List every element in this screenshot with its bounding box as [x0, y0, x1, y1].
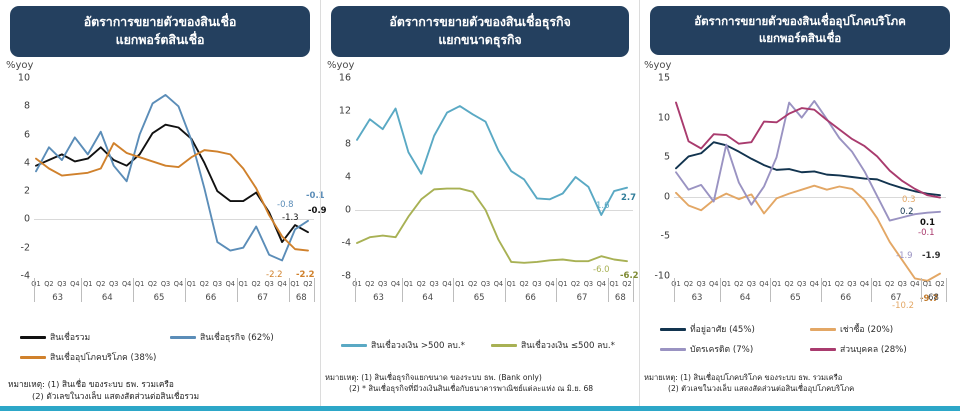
x-axis-year-separator	[185, 278, 186, 302]
legend-item[interactable]: บัตรเครดิต (7%)	[660, 342, 753, 356]
legend-item[interactable]: สินเชื่อธุรกิจ (62%)	[170, 330, 274, 344]
x-axis-quarter-tick: Q3	[213, 280, 222, 288]
x-axis-quarter-tick: Q1	[558, 280, 567, 288]
legend-credit-portfolio: สินเชื่อรวมสินเชื่อธุรกิจ (62%)สินเชื่ออ…	[14, 330, 314, 370]
x-axis-quarter-tick: Q2	[251, 280, 260, 288]
x-axis-quarter-tick: Q3	[161, 280, 170, 288]
x-axis-year-label: 64	[102, 293, 113, 303]
x-axis-year-separator	[770, 278, 771, 302]
x-axis-quarter-tick: Q2	[684, 280, 693, 288]
x-axis-year-label: 67	[257, 293, 268, 303]
series-line	[36, 125, 308, 242]
x-axis-quarter-tick: Q2	[303, 280, 312, 288]
y-axis-tick-label: 15	[644, 73, 670, 84]
x-axis-quarter-tick: Q1	[455, 280, 464, 288]
legend-label: ส่วนบุคคล (28%)	[840, 342, 907, 356]
x-axis-quarter-tick: Q2	[200, 280, 209, 288]
x-axis-quarter-tick: Q4	[910, 280, 919, 288]
data-end-label: -6.0	[593, 265, 610, 275]
x-axis-quarter-tick: Q4	[545, 280, 554, 288]
legend-item[interactable]: ส่วนบุคคล (28%)	[810, 342, 907, 356]
x-axis-year-label: 65	[154, 293, 165, 303]
x-axis-business-credit-size: Q1Q2Q3Q4Q1Q2Q3Q4Q1Q2Q3Q4Q1Q2Q3Q4Q1Q2Q3Q4…	[355, 278, 633, 310]
data-end-label: 1.6	[596, 201, 610, 211]
y-axis-tick-label: -8	[325, 271, 351, 282]
panel-title-business-credit-size: อัตราการขยายตัวของสินเชื่อธุรกิจ แยกขนาด…	[331, 6, 629, 57]
x-axis-quarter-tick: Q1	[290, 280, 299, 288]
x-axis-quarter-tick: Q2	[784, 280, 793, 288]
title-line-1: อัตราการขยายตัวของสินเชื่อธุรกิจ	[335, 13, 625, 31]
x-axis-consumer-credit-portfolio: Q1Q2Q3Q4Q1Q2Q3Q4Q1Q2Q3Q4Q1Q2Q3Q4Q1Q2Q3Q4…	[674, 278, 946, 310]
x-axis-year-separator	[921, 278, 922, 302]
x-axis-year-label: 66	[205, 293, 216, 303]
x-axis-quarter-tick: Q1	[239, 280, 248, 288]
x-axis-quarter-tick: Q4	[597, 280, 606, 288]
x-axis-quarter-tick: Q4	[391, 280, 400, 288]
data-end-label: 0.1	[920, 218, 935, 228]
x-axis-quarter-tick: Q2	[571, 280, 580, 288]
legend-label: สินเชื่อธุรกิจ (62%)	[200, 330, 274, 344]
x-axis-quarter-tick: Q2	[622, 280, 631, 288]
data-end-label: -1.9	[896, 251, 913, 261]
note-credit-portfolio: หมายเหตุ: (1) สินเชื่อ ของระบบ ธพ. รวมเค…	[8, 378, 199, 403]
x-axis-year-separator	[821, 278, 822, 302]
legend-color-swatch	[660, 328, 686, 331]
x-axis-quarter-tick: Q1	[872, 280, 881, 288]
series-line	[357, 189, 627, 263]
legend-label: บัตรเครดิต (7%)	[690, 342, 753, 356]
series-line	[676, 103, 940, 198]
x-axis-year-label: 68	[615, 293, 626, 303]
y-axis-unit: %yoy	[327, 60, 354, 71]
x-axis-quarter-tick: Q2	[935, 280, 944, 288]
legend-item[interactable]: ที่อยู่อาศัย (45%)	[660, 322, 755, 336]
title-line-1: อัตราการขยายตัวของสินเชื่อ	[14, 13, 306, 31]
legend-label: สินเชื่อวงเงิน ≤500 ลบ.*	[521, 338, 615, 352]
x-axis-quarter-tick: Q3	[378, 280, 387, 288]
x-axis-year-separator	[871, 278, 872, 302]
x-axis-quarter-tick: Q2	[148, 280, 157, 288]
legend-color-swatch	[491, 344, 517, 347]
y-axis-tick-label: 8	[325, 139, 351, 150]
y-axis-tick-label: 6	[4, 129, 30, 140]
series-line	[676, 186, 940, 281]
x-axis-quarter-tick: Q3	[532, 280, 541, 288]
x-axis-quarter-tick: Q2	[365, 280, 374, 288]
x-axis-year-separator	[453, 278, 454, 302]
legend-color-swatch	[20, 336, 46, 339]
series-line	[36, 143, 308, 250]
note-line-1: หมายเหตุ: (1) สินเชื่อธุรกิจแยกขนาด ของร…	[325, 373, 542, 382]
note-consumer-credit-portfolio: หมายเหตุ: (1) สินเชื่ออุปโภคบริโภค ของระ…	[644, 372, 854, 395]
x-axis-quarter-tick: Q1	[671, 280, 680, 288]
legend-color-swatch	[810, 348, 836, 351]
x-axis-year-label: 65	[790, 293, 801, 303]
title-line-1: อัตราการขยายตัวของสินเชื่ออุปโภคบริโภค	[654, 13, 946, 30]
x-axis-quarter-tick: Q2	[417, 280, 426, 288]
x-axis-year-separator	[314, 278, 315, 302]
x-axis-quarter-tick: Q3	[429, 280, 438, 288]
x-axis-year-separator	[556, 278, 557, 302]
y-axis-tick-label: -5	[644, 231, 670, 242]
x-axis-quarter-tick: Q4	[226, 280, 235, 288]
y-axis-tick-label: 0	[4, 214, 30, 225]
x-axis-quarter-tick: Q4	[70, 280, 79, 288]
x-axis-year-separator	[674, 278, 675, 302]
x-axis-quarter-tick: Q4	[277, 280, 286, 288]
x-axis-year-separator	[355, 278, 356, 302]
x-axis-quarter-tick: Q2	[885, 280, 894, 288]
x-axis-year-label: 64	[422, 293, 433, 303]
x-axis-year-separator	[633, 278, 634, 302]
x-axis-year-label: 67	[891, 293, 902, 303]
legend-color-swatch	[20, 356, 46, 359]
y-axis-unit: %yoy	[6, 60, 33, 71]
bottom-accent-bar	[0, 406, 960, 411]
y-axis-tick-label: 12	[325, 106, 351, 117]
x-axis-year-separator	[505, 278, 506, 302]
data-end-label: -1.9	[922, 251, 941, 261]
x-axis-quarter-tick: Q1	[83, 280, 92, 288]
chart-panel-business-credit-size: อัตราการขยายตัวของสินเชื่อธุรกิจ แยกขนาด…	[320, 0, 640, 411]
chart-panel-consumer-credit-portfolio: อัตราการขยายตัวของสินเชื่ออุปโภคบริโภค แ…	[640, 0, 960, 411]
note-line-2: (2) * สินเชื่อธุรกิจที่มีวงเงินสินเชื่อก…	[325, 383, 593, 394]
legend-color-swatch	[810, 328, 836, 331]
x-axis-quarter-tick: Q4	[494, 280, 503, 288]
legend-item[interactable]: เช่าซื้อ (20%)	[810, 322, 893, 336]
x-axis-quarter-tick: Q4	[174, 280, 183, 288]
x-axis-quarter-tick: Q4	[442, 280, 451, 288]
x-axis-quarter-tick: Q3	[57, 280, 66, 288]
y-axis-tick-label: 10	[4, 73, 30, 84]
x-axis-quarter-tick: Q1	[822, 280, 831, 288]
y-axis-tick-label: 4	[4, 157, 30, 168]
x-axis-year-label: 63	[692, 293, 703, 303]
y-axis-tick-label: 16	[325, 73, 351, 84]
x-axis-quarter-tick: Q4	[122, 280, 131, 288]
x-axis-year-label: 63	[373, 293, 384, 303]
panel-title-credit-portfolio: อัตราการขยายตัวของสินเชื่อ แยกพอร์ตสินเช…	[10, 6, 310, 57]
x-axis-quarter-tick: Q1	[507, 280, 516, 288]
x-axis-year-label: 67	[577, 293, 588, 303]
x-axis-year-label: 64	[740, 293, 751, 303]
y-axis-tick-label: 0	[325, 205, 351, 216]
x-axis-year-separator	[946, 278, 947, 302]
x-axis-quarter-tick: Q3	[584, 280, 593, 288]
y-axis-tick-label: 5	[644, 152, 670, 163]
legend-item[interactable]: สินเชื่อรวม	[20, 330, 90, 344]
x-axis-quarter-tick: Q3	[797, 280, 806, 288]
title-line-2: แยกพอร์ตสินเชื่อ	[654, 30, 946, 47]
x-axis-quarter-tick: Q1	[772, 280, 781, 288]
x-axis-year-label: 68	[296, 293, 307, 303]
y-axis-tick-label: -4	[325, 238, 351, 249]
x-axis-quarter-tick: Q3	[109, 280, 118, 288]
y-axis-tick-label: 2	[4, 186, 30, 197]
x-axis-year-label: 68	[928, 293, 939, 303]
legend-business-credit-size: สินเชื่อวงเงิน >500 ลบ.*สินเชื่อวงเงิน ≤…	[335, 338, 635, 366]
x-axis-quarter-tick: Q1	[722, 280, 731, 288]
legend-item[interactable]: สินเชื่ออุปโภคบริโภค (38%)	[20, 350, 156, 364]
y-axis-tick-label: 4	[325, 172, 351, 183]
legend-color-swatch	[660, 348, 686, 351]
x-axis-quarter-tick: Q1	[135, 280, 144, 288]
x-axis-quarter-tick: Q2	[734, 280, 743, 288]
x-axis-year-separator	[34, 278, 35, 302]
data-end-label: -0.8	[277, 200, 294, 210]
x-axis-quarter-tick: Q1	[352, 280, 361, 288]
plot-area-consumer-credit-portfolio: 151050-5-100.30.20.1-0.1-1.9-1.9-10.2-9.…	[674, 78, 946, 276]
y-axis-tick-label: 0	[644, 191, 670, 202]
legend-label: สินเชื่อรวม	[50, 330, 90, 344]
legend-item[interactable]: สินเชื่อวงเงิน >500 ลบ.*	[341, 338, 465, 352]
series-line	[36, 95, 308, 260]
x-axis-year-label: 66	[525, 293, 536, 303]
data-end-label: -1.3	[282, 213, 299, 223]
note-business-credit-size: หมายเหตุ: (1) สินเชื่อธุรกิจแยกขนาด ของร…	[325, 372, 593, 395]
x-axis-year-separator	[720, 278, 721, 302]
x-axis-quarter-tick: Q4	[860, 280, 869, 288]
y-axis-tick-label: 10	[644, 112, 670, 123]
note-line-1: หมายเหตุ: (1) สินเชื่อ ของระบบ ธพ. รวมเค…	[8, 379, 174, 389]
legend-item[interactable]: สินเชื่อวงเงิน ≤500 ลบ.*	[491, 338, 615, 352]
x-axis-year-separator	[608, 278, 609, 302]
note-line-2: (2) ตัวเลขในวงเล็บ แสดงสัดส่วนต่อสินเชื่…	[8, 390, 199, 402]
y-axis-unit: %yoy	[644, 60, 671, 71]
legend-color-swatch	[341, 344, 367, 347]
panel-title-consumer-credit-portfolio: อัตราการขยายตัวของสินเชื่ออุปโภคบริโภค แ…	[650, 6, 950, 55]
x-axis-quarter-tick: Q3	[696, 280, 705, 288]
y-axis-tick-label: 8	[4, 101, 30, 112]
x-axis-credit-portfolio: Q1Q2Q3Q4Q1Q2Q3Q4Q1Q2Q3Q4Q1Q2Q3Q4Q1Q2Q3Q4…	[34, 278, 314, 310]
x-axis-quarter-tick: Q4	[759, 280, 768, 288]
x-axis-quarter-tick: Q1	[923, 280, 932, 288]
x-axis-quarter-tick: Q2	[835, 280, 844, 288]
x-axis-quarter-tick: Q4	[709, 280, 718, 288]
x-axis-quarter-tick: Q4	[810, 280, 819, 288]
y-axis-tick-label: -2	[4, 242, 30, 253]
x-axis-year-separator	[289, 278, 290, 302]
legend-label: สินเชื่ออุปโภคบริโภค (38%)	[50, 350, 156, 364]
note-line-1: หมายเหตุ: (1) สินเชื่ออุปโภคบริโภค ของระ…	[644, 373, 842, 382]
legend-color-swatch	[170, 336, 196, 339]
x-axis-quarter-tick: Q3	[847, 280, 856, 288]
x-axis-year-separator	[81, 278, 82, 302]
x-axis-year-separator	[237, 278, 238, 302]
data-end-label: 0.3	[902, 195, 916, 205]
chart-panel-credit-portfolio: อัตราการขยายตัวของสินเชื่อ แยกพอร์ตสินเช…	[0, 0, 320, 411]
x-axis-quarter-tick: Q2	[468, 280, 477, 288]
title-line-2: แยกพอร์ตสินเชื่อ	[14, 31, 306, 49]
x-axis-year-separator	[133, 278, 134, 302]
note-line-2: (2) ตัวเลขในวงเล็บ แสดงสัดส่วนต่อสินเชื่…	[644, 383, 854, 394]
x-axis-quarter-tick: Q1	[404, 280, 413, 288]
x-axis-year-label: 65	[474, 293, 485, 303]
x-axis-year-separator	[402, 278, 403, 302]
x-axis-quarter-tick: Q2	[519, 280, 528, 288]
x-axis-year-label: 66	[840, 293, 851, 303]
x-axis-quarter-tick: Q3	[898, 280, 907, 288]
x-axis-quarter-tick: Q3	[481, 280, 490, 288]
plot-area-credit-portfolio: 1086420-2-4-0.8-0.1-1.3-0.9-2.2-2.2	[34, 78, 314, 276]
data-end-label: -0.1	[918, 228, 935, 238]
data-end-label: 2.7	[621, 193, 636, 203]
x-axis-year-label: 63	[52, 293, 63, 303]
legend-label: เช่าซื้อ (20%)	[840, 322, 893, 336]
y-axis-tick-label: -10	[644, 271, 670, 282]
data-end-label: 0.2	[900, 207, 914, 217]
title-line-2: แยกขนาดธุรกิจ	[335, 31, 625, 49]
x-axis-quarter-tick: Q1	[609, 280, 618, 288]
x-axis-quarter-tick: Q1	[187, 280, 196, 288]
series-line	[357, 106, 627, 215]
x-axis-quarter-tick: Q1	[31, 280, 40, 288]
series-line	[676, 101, 940, 221]
plot-area-business-credit-size: 1612840-4-81.62.7-6.0-6.2	[355, 78, 633, 276]
legend-label: สินเชื่อวงเงิน >500 ลบ.*	[371, 338, 465, 352]
x-axis-quarter-tick: Q2	[96, 280, 105, 288]
x-axis-quarter-tick: Q3	[264, 280, 273, 288]
y-axis-tick-label: -4	[4, 271, 30, 282]
legend-label: ที่อยู่อาศัย (45%)	[690, 322, 755, 336]
x-axis-quarter-tick: Q3	[747, 280, 756, 288]
legend-consumer-credit-portfolio: ที่อยู่อาศัย (45%)เช่าซื้อ (20%)บัตรเครด…	[654, 322, 954, 366]
x-axis-quarter-tick: Q2	[44, 280, 53, 288]
